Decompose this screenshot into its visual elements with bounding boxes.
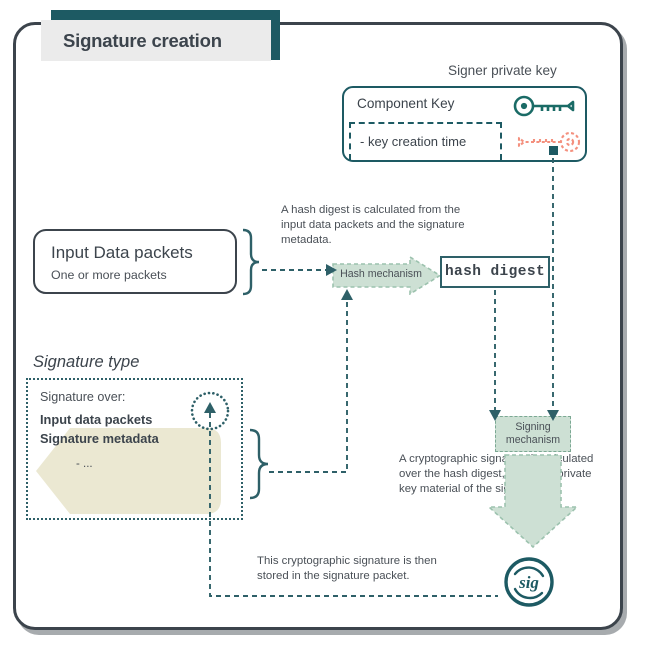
hash-digest-box: hash digest xyxy=(440,256,550,288)
signature-over-more: - ... xyxy=(76,458,93,470)
store-note-text: This cryptographic signature is then sto… xyxy=(257,554,472,584)
diagram-canvas: Signature creation Signer private key Co… xyxy=(0,0,649,661)
page-title: Signature creation xyxy=(63,30,222,52)
signer-private-key-label: Signer private key xyxy=(448,63,557,78)
key-dashed-icon xyxy=(519,133,579,151)
input-data-packets-subtitle: One or more packets xyxy=(51,268,167,282)
sig-seal-icon: sig xyxy=(503,556,555,608)
signature-over-label: Signature over: xyxy=(40,390,125,404)
hash-mechanism-label: Hash mechanism xyxy=(338,268,424,280)
signing-mechanism-box: Signingmechanism xyxy=(495,416,571,452)
component-key-creation-time: - key creation time xyxy=(360,134,466,149)
signature-over-item-0: Input data packets xyxy=(40,412,152,427)
title-box: Signature creation xyxy=(41,20,271,61)
component-key-title: Component Key xyxy=(357,96,454,111)
sig-seal-label: sig xyxy=(518,573,539,592)
signing-note-text: A cryptographic signature is calculated … xyxy=(399,452,627,497)
input-data-packets-title: Input Data packets xyxy=(51,243,193,263)
signature-over-item-1: Signature metadata xyxy=(40,431,159,446)
signing-mechanism-label: Signingmechanism xyxy=(506,421,560,447)
hash-note-text: A hash digest is calculated from the inp… xyxy=(281,203,496,248)
key-solid-icon xyxy=(515,97,573,115)
signature-type-label: Signature type xyxy=(33,355,139,370)
component-key-icons xyxy=(512,92,584,158)
hash-digest-label: hash digest xyxy=(445,264,545,280)
